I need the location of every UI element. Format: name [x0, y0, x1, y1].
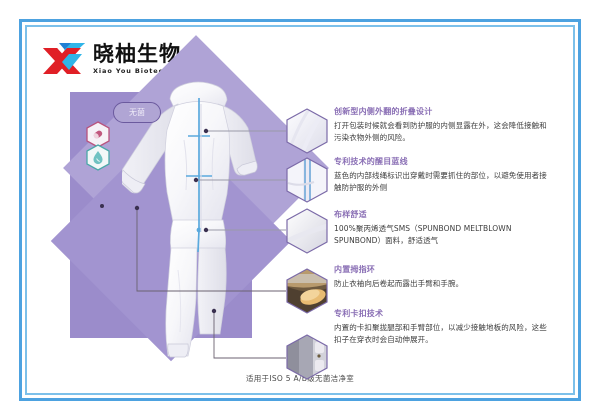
feature-callout-5: 专利卡扣技术 内置的卡扣聚拢腿部和手臂部位，以减少接触地板的风险，这些扣子在穿衣… — [334, 309, 554, 345]
blue-line-seam-thumb-icon[interactable] — [286, 157, 328, 203]
x-monogram-logo-icon — [41, 40, 87, 78]
sms-fabric-thumb-icon[interactable] — [286, 208, 328, 254]
status-badge-sterile: 无菌 — [113, 102, 161, 123]
feature-callout-3: 布样舒适 100%聚丙烯透气SMS（SPUNBOND MELTBLOWN SPU… — [334, 210, 554, 246]
feature-title-3: 布样舒适 — [334, 210, 554, 220]
poster-canvas: 晓柚生物 Xiao You Biotechnology 无菌 — [28, 28, 572, 392]
feature-body-1: 打开包装时候就会看到防护服的内侧显露在外，这会降低接触和污染衣物外侧的风险。 — [334, 120, 554, 143]
feature-title-5: 专利卡扣技术 — [334, 309, 554, 319]
feature-title-1: 创新型内侧外翻的折叠设计 — [334, 107, 554, 117]
feature-callout-1: 创新型内侧外翻的折叠设计 打开包装时候就会看到防护服的内侧显露在外，这会降低接触… — [334, 107, 554, 143]
feature-title-4: 内置拇指环 — [334, 265, 554, 275]
product-stage: 无菌 — [56, 86, 284, 344]
feature-callout-2: 专利技术的醒目蓝线 蓝色的内部线绳标识出穿戴时需要抓住的部位，以避免使用者接触防… — [334, 157, 554, 193]
poster-root: 晓柚生物 Xiao You Biotechnology 无菌 — [0, 0, 600, 420]
feature-body-2: 蓝色的内部线绳标识出穿戴时需要抓住的部位，以避免使用者接触防护服的外侧 — [334, 170, 554, 193]
feature-title-2: 专利技术的醒目蓝线 — [334, 157, 554, 167]
thumb-loop-anchor-dot — [100, 204, 104, 208]
feature-body-5: 内置的卡扣聚拢腿部和手臂部位，以减少接触地板的风险，这些扣子在穿衣时会自动伸展开… — [334, 322, 554, 345]
droplet-icon — [86, 144, 110, 171]
folded-garment-thumb-icon[interactable] — [286, 108, 328, 154]
feature-body-4: 防止衣袖向后卷起而露出手臂和手腕。 — [334, 278, 554, 290]
snap-buckle-thumb-icon[interactable] — [286, 334, 328, 380]
feature-body-3: 100%聚丙烯透气SMS（SPUNBOND MELTBLOWN SPUNBOND… — [334, 223, 554, 246]
feature-callout-4: 内置拇指环 防止衣袖向后卷起而露出手臂和手腕。 — [334, 265, 554, 290]
thumb-loop-cuff-thumb-icon[interactable] — [286, 268, 328, 314]
